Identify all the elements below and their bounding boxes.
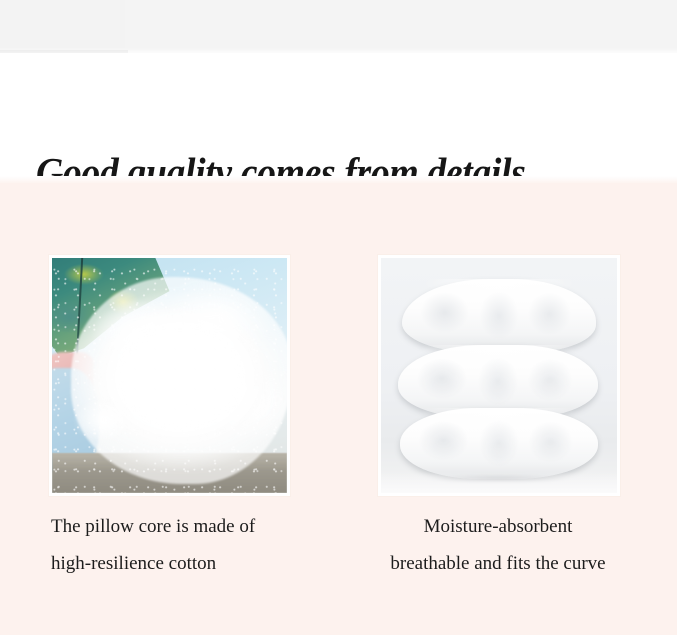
feature-image-row xyxy=(0,255,677,500)
hero-section: Good quality comes from details xyxy=(0,53,677,183)
photo-pillow-bottom xyxy=(400,408,598,479)
photo-pillow-middle xyxy=(398,345,599,418)
feature-caption-pillows: Moisture-absorbent breathable and fits t… xyxy=(373,508,623,582)
photo-pillow-top xyxy=(402,279,596,352)
stacked-pillow-inserts-image xyxy=(381,258,617,493)
feature-card-pillows[interactable] xyxy=(378,255,620,496)
image-frame xyxy=(378,255,620,496)
polyester-fiber-fill-closeup-image xyxy=(52,258,287,493)
feature-caption-fiber: The pillow core is made of high-resilien… xyxy=(51,508,351,582)
top-gray-band xyxy=(0,0,677,53)
photo-floor-surface xyxy=(381,472,617,493)
top-band-left-segment xyxy=(0,0,125,53)
photo-fiber-texture xyxy=(52,258,287,493)
image-frame xyxy=(49,255,290,496)
product-detail-page: Good quality comes from details xyxy=(0,0,677,635)
feature-card-fiber[interactable] xyxy=(49,255,290,496)
